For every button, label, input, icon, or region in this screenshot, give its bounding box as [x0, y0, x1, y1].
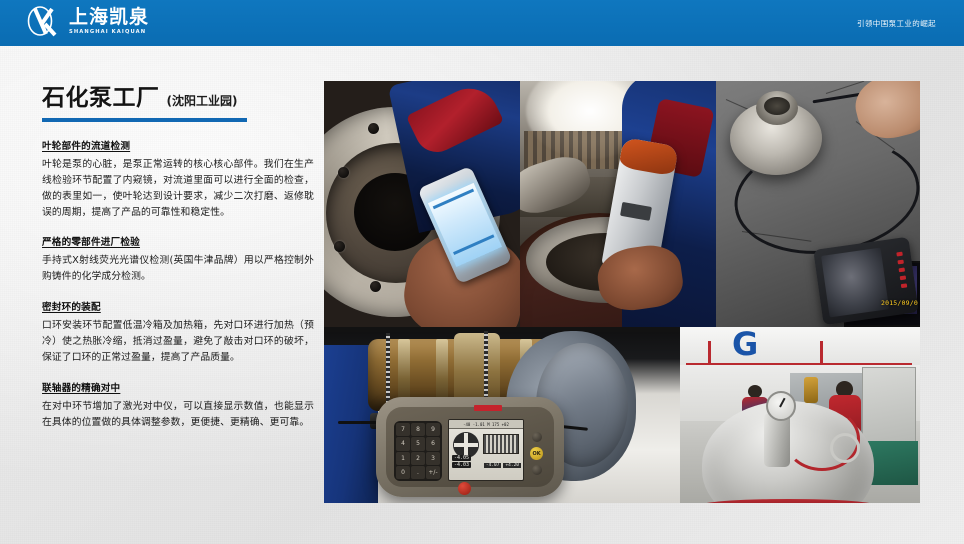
photo-row-top: 2015/09/0 [324, 81, 920, 327]
impeller-borescope-photo: 2015/09/0 [716, 81, 920, 327]
sections-list: 叶轮部件的流道检测 叶轮是泵的心脏，是泵正常运转的核心核心部件。我们在生产线检验… [42, 138, 314, 430]
page-title: 石化泵工厂 (沈阳工业园) [42, 78, 314, 112]
section-body: 手持式X射线荧光光谱仪检测(英国牛津品牌）用以严格控制外购铸件的化学成分检测。 [42, 253, 314, 285]
laser-alignment-photo: 7 8 9 4 5 6 1 2 3 0 . +/- -40 -1.01 M 17… [324, 327, 680, 503]
tool-button-up[interactable] [532, 432, 542, 442]
equipment-cabinet-right [862, 367, 916, 451]
lcd-readout: -4.07 [484, 463, 502, 468]
photo-top-edge [324, 327, 680, 332]
page-title-sub: (沈阳工业园) [167, 92, 238, 109]
section-body: 叶轮是泵的心脏，是泵正常运转的核心核心部件。我们在生产线检验环节配置了内窥镜，对… [42, 157, 314, 220]
keypad-key[interactable]: . [411, 466, 425, 479]
workshop-sign-letter: G [732, 327, 758, 363]
keypad-key[interactable]: 5 [411, 437, 425, 450]
brass-valve [804, 377, 818, 403]
lcd-readout: -4.05 [452, 455, 471, 461]
vessel-ring-handle [830, 433, 860, 463]
section-item: 密封环的装配 口环安装环节配置低温冷箱及加热箱，先对口环进行加热（预冷）使之热胀… [42, 299, 314, 366]
lcd-machine-diagram-icon [483, 434, 519, 454]
lcd-readout-group-left: -4.05 -4.03 [452, 455, 471, 468]
brand-logo-text: 上海凯泉 SHANGHAI KAIQUAN [69, 8, 149, 35]
section-heading: 密封环的装配 [42, 299, 314, 313]
workshop-pressure-test-photo: G [680, 327, 920, 503]
keypad-key[interactable]: 1 [396, 452, 410, 465]
lcd-readout-group-right: -4.07 +4.20 [484, 463, 521, 468]
section-item: 严格的零部件进厂检验 手持式X射线荧光光谱仪检测(英国牛津品牌）用以严格控制外购… [42, 234, 314, 285]
keypad-key[interactable]: 7 [396, 423, 410, 436]
flange-inspection-photo [324, 81, 520, 327]
lcd-readout: -4.03 [452, 462, 471, 468]
tool-brand-label [474, 405, 502, 411]
header-slogan: 引领中国泵工业的崛起 [857, 0, 936, 46]
photo-row-bottom: 7 8 9 4 5 6 1 2 3 0 . +/- -40 -1.01 M 17… [324, 327, 920, 503]
brand-name-cn: 上海凯泉 [69, 8, 149, 27]
keypad-key[interactable]: 8 [411, 423, 425, 436]
brand-logo[interactable]: 上海凯泉 SHANGHAI KAIQUAN [26, 5, 149, 39]
device-display-slot [620, 202, 652, 221]
keypad-key[interactable]: 2 [411, 452, 425, 465]
workshop-ceiling [680, 327, 920, 367]
keypad-key[interactable]: 6 [426, 437, 440, 450]
xrf-analyzer-photo [520, 81, 716, 327]
page-header: 上海凯泉 SHANGHAI KAIQUAN 引领中国泵工业的崛起 [0, 0, 964, 46]
section-heading: 叶轮部件的流道检测 [42, 138, 314, 152]
monitor-screen [821, 248, 889, 318]
section-heading: 联轴器的精确对中 [42, 380, 314, 394]
page-title-main: 石化泵工厂 [42, 78, 160, 112]
keypad-key[interactable]: +/- [426, 466, 440, 479]
section-heading: 严格的零部件进厂检验 [42, 234, 314, 248]
tool-lcd-display: -40 -1.01 M 175 +02 -4.05 -4.03 -4.07 +4… [448, 419, 524, 481]
keypad-key[interactable]: 9 [426, 423, 440, 436]
pressure-gauge [766, 391, 796, 421]
content-text-column: 石化泵工厂 (沈阳工业园) 叶轮部件的流道检测 叶轮是泵的心脏，是泵正常运转的核… [42, 78, 314, 444]
photo-timestamp: 2015/09/0 [881, 299, 918, 307]
keypad-key[interactable]: 4 [396, 437, 410, 450]
kaiquan-logo-icon [26, 5, 62, 39]
tool-button-down[interactable] [532, 465, 542, 475]
impeller-bore [764, 97, 790, 115]
lcd-readout: +4.20 [503, 463, 521, 468]
tool-power-button[interactable] [458, 482, 471, 495]
section-body: 口环安装环节配置低温冷箱及加热箱，先对口环进行加热（预冷）使之热胀冷缩，抵消过盈… [42, 318, 314, 366]
photo-collage: 2015/09/0 [324, 81, 920, 503]
title-underline-rule [42, 118, 247, 122]
operator-hand-upper [850, 81, 920, 145]
brand-name-en: SHANGHAI KAIQUAN [69, 30, 149, 35]
keypad-key[interactable]: 3 [426, 452, 440, 465]
lcd-header-row: -40 -1.01 M 175 +02 [449, 420, 523, 429]
section-item: 联轴器的精确对中 在对中环节增加了激光对中仪，可以直接显示数值，也能显示在具体的… [42, 380, 314, 431]
section-body: 在对中环节增加了激光对中仪，可以直接显示数值，也能显示在具体的位置做的具体调整参… [42, 399, 314, 431]
tool-ok-button[interactable]: OK [530, 447, 543, 460]
tool-keypad[interactable]: 7 8 9 4 5 6 1 2 3 0 . +/- [394, 421, 442, 481]
slide-root: 上海凯泉 SHANGHAI KAIQUAN 引领中国泵工业的崛起 石化泵工厂 (… [0, 0, 964, 544]
borescope-monitor [813, 237, 919, 326]
section-item: 叶轮部件的流道检测 叶轮是泵的心脏，是泵正常运转的核心核心部件。我们在生产线检验… [42, 138, 314, 220]
keypad-key[interactable]: 0 [396, 466, 410, 479]
tool-side-buttons[interactable]: OK [530, 432, 543, 475]
